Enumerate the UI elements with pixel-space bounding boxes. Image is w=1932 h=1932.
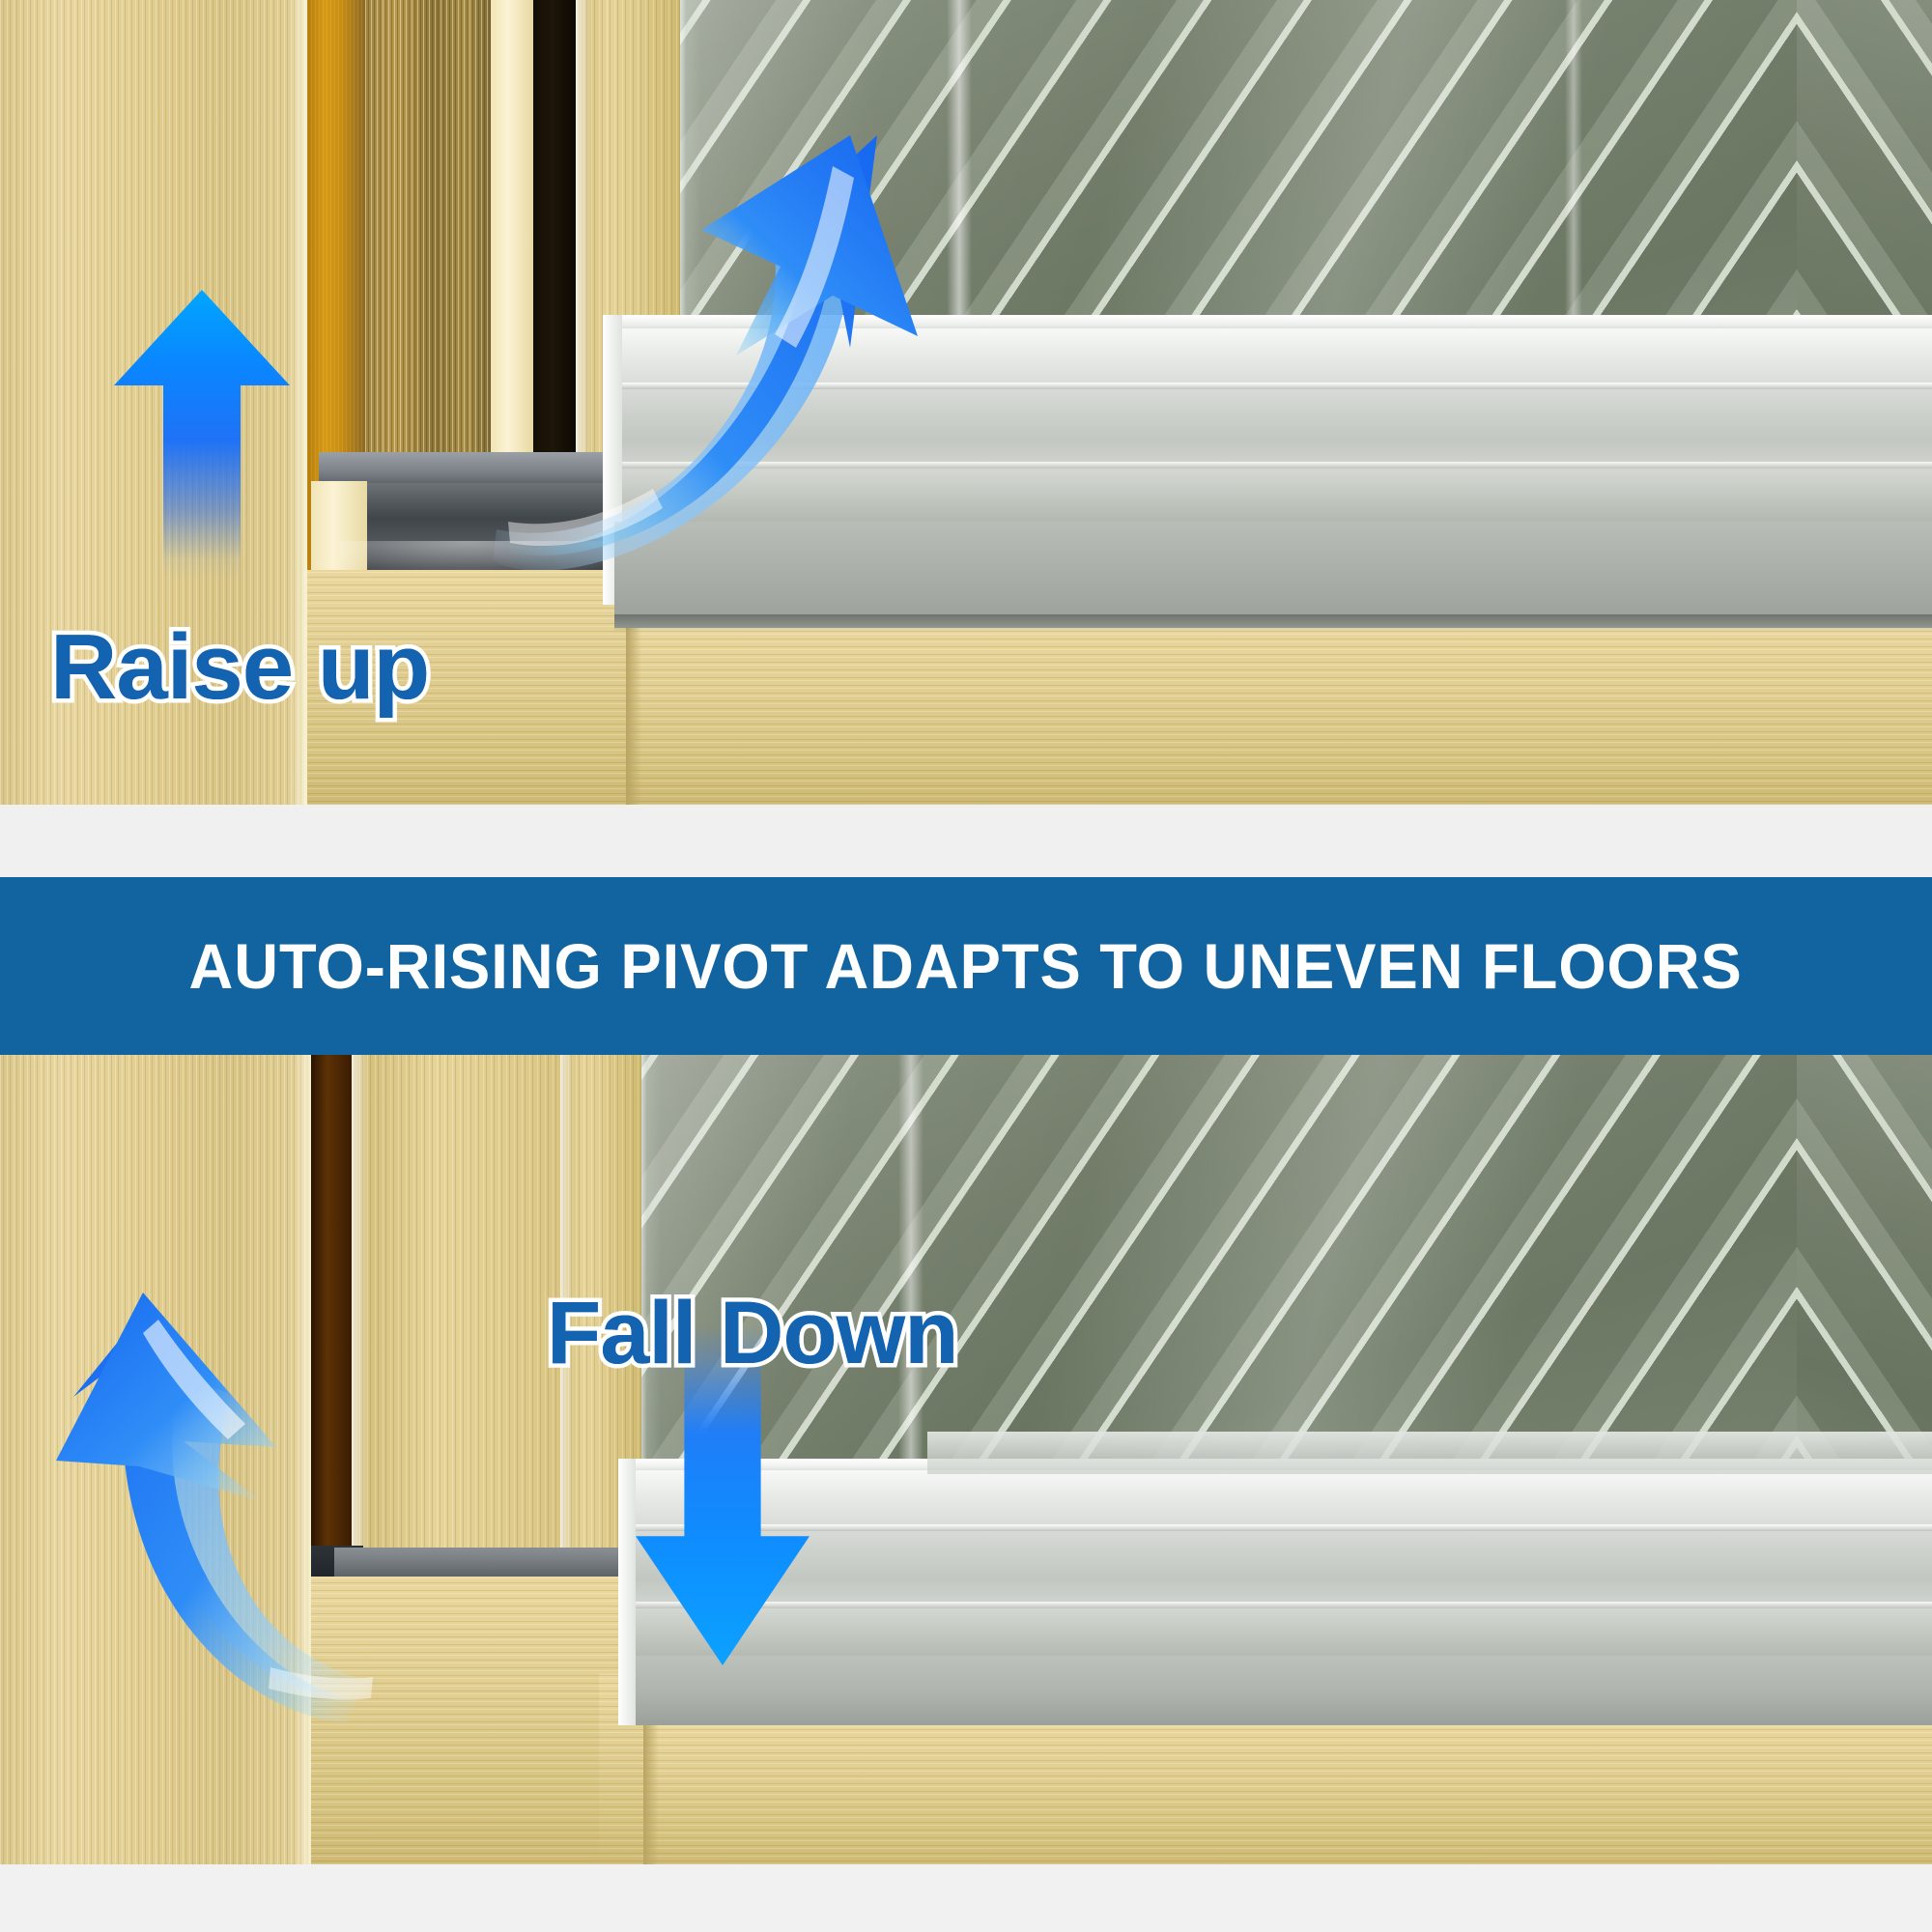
panel-door-closed: Fall Down Fall Down	[0, 1055, 1932, 1864]
threshold-left-return	[626, 623, 641, 805]
headline-banner: AUTO-RISING PIVOT ADAPTS TO UNEVEN FLOOR…	[0, 877, 1932, 1055]
fall-down-label: Fall Down	[547, 1283, 957, 1384]
threshold-left-return	[643, 1719, 659, 1864]
sweep-seal-left-cap	[618, 1459, 636, 1725]
curved-pivot-arrow-icon	[39, 1248, 444, 1731]
seal-inner-reveal	[927, 1432, 1932, 1474]
threshold-rail	[626, 623, 1932, 805]
panel-separator	[0, 805, 1932, 877]
threshold-rail	[643, 1719, 1932, 1864]
curved-lift-arrow-icon	[396, 106, 937, 589]
sweep-seal-groove	[628, 1524, 1932, 1531]
raise-up-label: Raise up	[50, 614, 429, 721]
sweep-seal-carrier	[628, 1656, 1932, 1725]
headline-banner-text: AUTO-RISING PIVOT ADAPTS TO UNEVEN FLOOR…	[189, 934, 1743, 998]
footer-whitespace	[0, 1864, 1932, 1932]
panel-door-raised: Raise up Raise up	[0, 0, 1932, 805]
sweep-seal-under-shadow	[614, 614, 1932, 632]
sweep-seal-bar	[628, 1470, 1932, 1659]
sweep-seal-groove	[628, 1602, 1932, 1608]
infographic-canvas: Raise up Raise up AUTO-RISING PIVOT ADAP…	[0, 0, 1932, 1932]
